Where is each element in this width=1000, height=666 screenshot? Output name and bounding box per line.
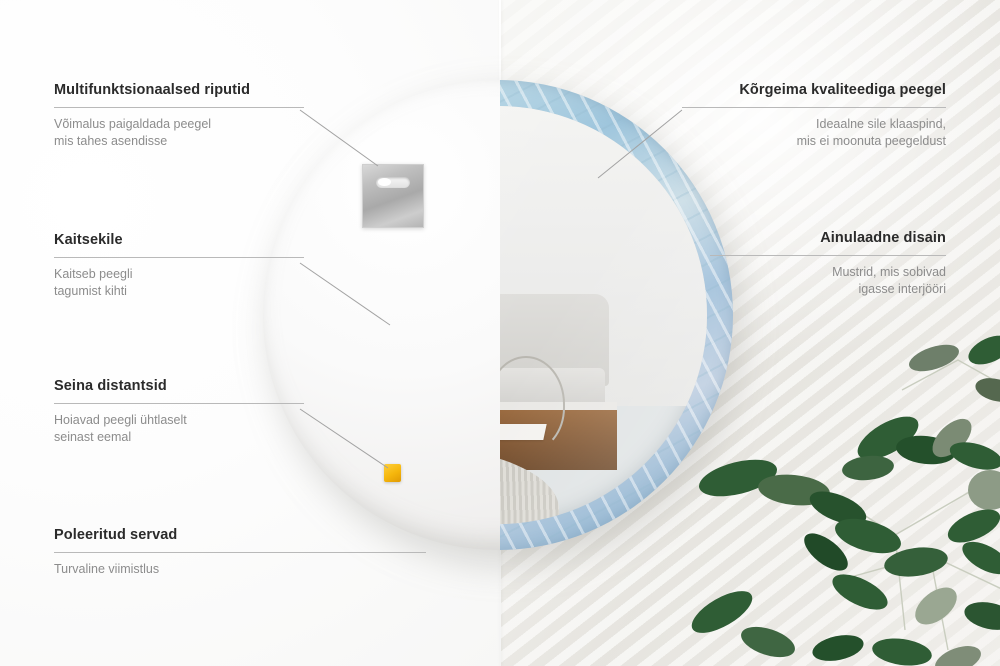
callout-polished-edges: Poleeritud servad Turvaline viimistlus <box>54 527 426 578</box>
keyhole-slot-icon <box>376 177 410 188</box>
callout-wall-spacers: Seina distantsid Hoiavad peegli ühtlasel… <box>54 378 304 446</box>
foliage-decoration <box>690 330 1000 666</box>
callout-hangers: Multifunktsionaalsed riputid Võimalus pa… <box>54 82 304 150</box>
callout-rule <box>54 107 304 108</box>
callout-description: Võimalus paigaldada peegel mis tahes ase… <box>54 116 304 150</box>
callout-protective-film: Kaitsekile Kaitseb peegli tagumist kihti <box>54 232 304 300</box>
callout-description: Mustrid, mis sobivad igasse interjööri <box>710 264 946 298</box>
callout-rule <box>682 107 946 108</box>
yellow-wall-spacer <box>384 464 401 482</box>
callout-description: Ideaalne sile klaaspind, mis ei moonuta … <box>682 116 946 150</box>
callout-title: Kaitsekile <box>54 232 304 248</box>
callout-rule <box>710 255 946 256</box>
leaves-icon <box>690 330 1000 666</box>
reflected-open-book <box>500 424 547 440</box>
callout-rule <box>54 257 304 258</box>
callout-description: Turvaline viimistlus <box>54 561 426 578</box>
callout-rule <box>54 552 426 553</box>
keyhole-hanger-plate <box>362 164 424 228</box>
callout-top-quality-mirror: Kõrgeima kvaliteediga peegel Ideaalne si… <box>682 82 946 150</box>
callout-description: Hoiavad peegli ühtlaselt seinast eemal <box>54 412 304 446</box>
callout-title: Poleeritud servad <box>54 527 426 543</box>
callout-title: Kõrgeima kvaliteediga peegel <box>682 82 946 98</box>
callout-title: Ainulaadne disain <box>710 230 946 246</box>
callout-unique-design: Ainulaadne disain Mustrid, mis sobivad i… <box>710 230 946 298</box>
callout-title: Seina distantsid <box>54 378 304 394</box>
infographic-canvas: Multifunktsionaalsed riputid Võimalus pa… <box>0 0 1000 666</box>
callout-description: Kaitseb peegli tagumist kihti <box>54 266 304 300</box>
callout-title: Multifunktsionaalsed riputid <box>54 82 304 98</box>
callout-rule <box>54 403 304 404</box>
mirror-product <box>263 80 733 550</box>
